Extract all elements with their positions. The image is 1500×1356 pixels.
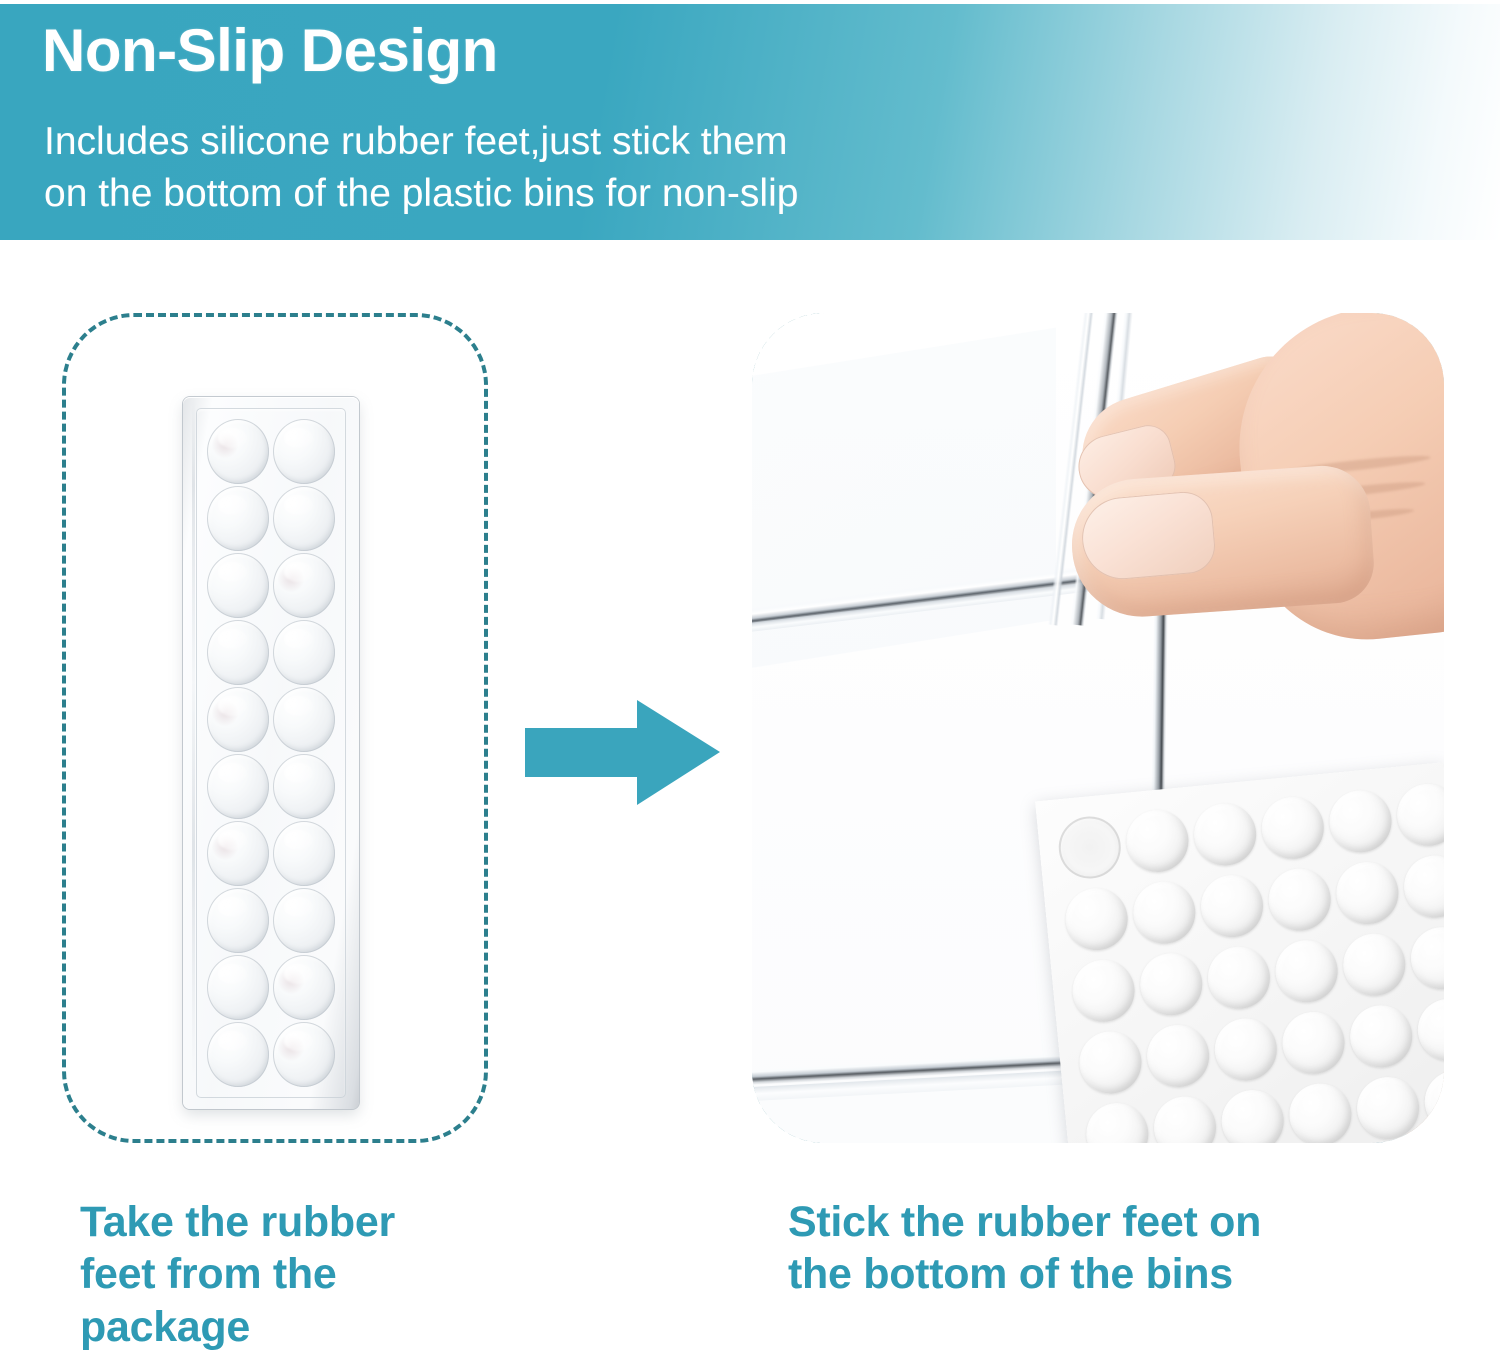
clear-bumper	[273, 754, 335, 819]
clear-bumper-grid	[207, 419, 335, 1087]
header-banner: Non-Slip Design Includes silicone rubber…	[0, 4, 1500, 240]
clear-bumper	[273, 553, 335, 618]
white-bumper	[1077, 1029, 1145, 1097]
white-bumper	[1084, 1100, 1152, 1143]
clear-bumper	[207, 888, 269, 953]
page-title: Non-Slip Design	[42, 18, 498, 84]
clear-bumper	[207, 754, 269, 819]
white-bumper	[1401, 853, 1444, 921]
blister-package-strip	[183, 397, 359, 1109]
bin-and-hands-scene	[752, 313, 1444, 1143]
white-bumper	[1212, 1016, 1280, 1084]
white-bumper	[1334, 859, 1402, 927]
white-bumper	[1340, 931, 1408, 999]
clear-bumper	[207, 1022, 269, 1087]
white-bumper	[1287, 1081, 1355, 1143]
white-bumper	[1191, 801, 1259, 869]
panel-left-media	[62, 313, 488, 1143]
white-bumper-grid	[1053, 777, 1444, 1143]
clear-bumper	[273, 955, 335, 1020]
white-bumper	[1144, 1022, 1212, 1090]
white-bumper	[1063, 885, 1131, 953]
right-arrow-icon	[525, 700, 720, 805]
caption-right: Stick the rubber feet on the bottom of t…	[788, 1196, 1448, 1301]
thumbnail	[1079, 489, 1218, 582]
caption-left: Take the rubber feet from the package	[80, 1196, 510, 1353]
white-bumper	[1205, 944, 1273, 1012]
panel-left	[62, 313, 488, 1143]
clear-bumper	[207, 553, 269, 618]
white-bumper	[1137, 950, 1205, 1018]
clear-bumper	[207, 955, 269, 1020]
white-bumper	[1219, 1087, 1287, 1143]
clear-bumper	[207, 486, 269, 551]
white-bumper	[1347, 1003, 1415, 1071]
clear-bumper	[273, 888, 335, 953]
white-bumper	[1124, 807, 1192, 875]
hand-pinching-rubber-foot	[1072, 313, 1444, 713]
white-bumper	[1354, 1074, 1422, 1142]
clear-bumper	[273, 687, 335, 752]
clear-bumper	[207, 419, 269, 484]
clear-bumper	[273, 821, 335, 886]
white-bumper	[1273, 937, 1341, 1005]
white-bumper	[1415, 996, 1444, 1064]
white-bumper	[1327, 788, 1395, 856]
clear-bumper	[273, 1022, 335, 1087]
clear-bumper	[273, 486, 335, 551]
clear-bumper	[273, 419, 335, 484]
white-bumper	[1131, 879, 1199, 947]
clear-bumper	[207, 687, 269, 752]
white-bumper	[1056, 814, 1124, 882]
white-bumper	[1070, 957, 1138, 1025]
white-bumper	[1422, 1068, 1444, 1136]
white-bumper	[1266, 866, 1334, 934]
header-subtitle: Includes silicone rubber feet,just stick…	[44, 116, 798, 221]
clear-bumper	[273, 620, 335, 685]
clear-bumper	[207, 620, 269, 685]
infographic-canvas: Non-Slip Design Includes silicone rubber…	[0, 0, 1500, 1356]
white-bumper	[1408, 924, 1444, 992]
white-bumper	[1198, 872, 1266, 940]
panel-right	[752, 313, 1444, 1143]
white-bumper	[1259, 794, 1327, 862]
clear-bumper	[207, 821, 269, 886]
white-bumper	[1151, 1094, 1219, 1143]
white-bumper	[1280, 1009, 1348, 1077]
panel-right-media	[752, 313, 1444, 1143]
white-bumper-sheet	[1035, 762, 1444, 1143]
white-bumper	[1394, 781, 1444, 849]
